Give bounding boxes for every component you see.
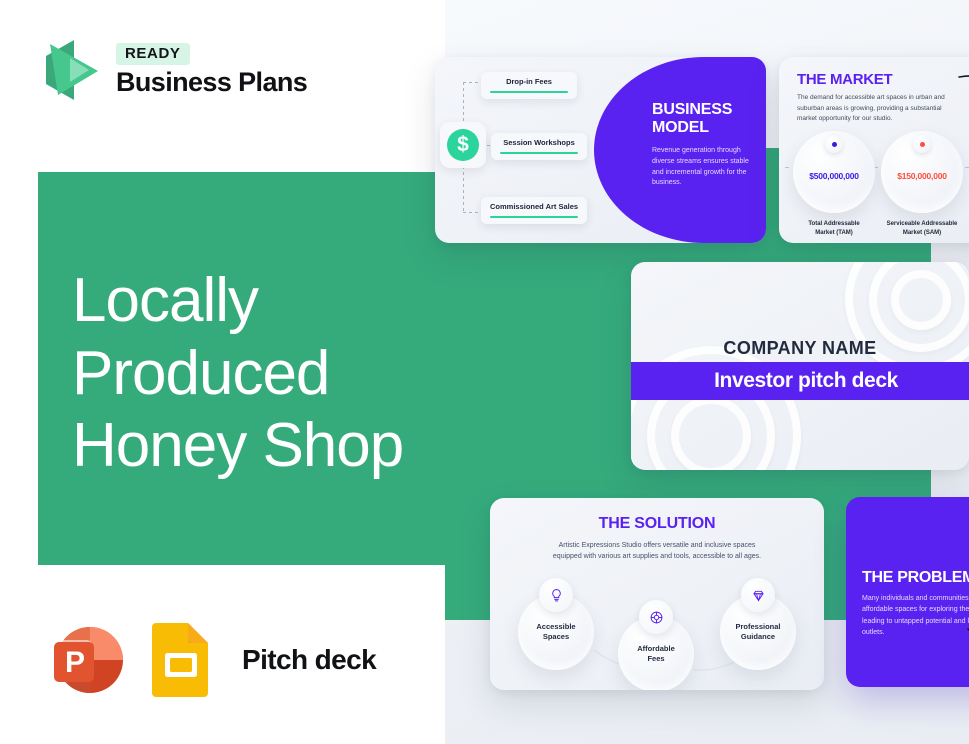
business-model-purple-panel: BUSINESS MODEL Revenue generation throug… <box>594 57 766 243</box>
revenue-item-label: Drop-in Fees <box>490 77 568 86</box>
dollar-badge: $ <box>440 122 486 168</box>
market-orb: $500,000,000 <box>793 131 875 213</box>
target-icon <box>639 600 673 634</box>
market-dot <box>832 142 837 147</box>
market-stat-caption: Total Addressable Market (TAM) <box>793 220 875 237</box>
revenue-item-bar <box>490 91 568 93</box>
revenue-item-session-workshops[interactable]: Session Workshops <box>491 133 587 160</box>
investor-pitch-deck-band: Investor pitch deck <box>631 362 969 400</box>
investor-pitch-deck-label: Investor pitch deck <box>714 369 898 393</box>
solution-node-professional-guidance[interactable]: Professional Guidance <box>720 594 796 670</box>
solution-node-accessible-spaces[interactable]: Accessible Spaces <box>518 594 594 670</box>
dollar-icon: $ <box>447 129 479 161</box>
footer-label: Pitch deck <box>242 644 376 676</box>
solution-node-label: Affordable Fees <box>637 644 675 665</box>
slide-the-market[interactable]: THE MARKET The demand for accessible art… <box>779 57 969 243</box>
play-triangle-logo-svg <box>40 36 102 104</box>
business-model-flow: $ Drop-in Fees Session Workshops Commiss… <box>435 57 610 243</box>
market-title: THE MARKET <box>797 71 892 88</box>
page-title: Locally Produced Honey Shop <box>72 265 403 483</box>
brand-logo-group: READY Business Plans <box>40 36 307 104</box>
revenue-item-drop-in-fees[interactable]: Drop-in Fees <box>481 72 577 99</box>
footer-format-group: P Pitch deck <box>40 615 376 705</box>
market-stat-sam: $150,000,000 Serviceable Addressable Mar… <box>881 131 963 237</box>
market-stat-caption: Serviceable Addressable Market (SAM) <box>881 220 963 237</box>
slide-business-model[interactable]: $ Drop-in Fees Session Workshops Commiss… <box>435 57 766 243</box>
solution-node-label: Accessible Spaces <box>536 622 575 643</box>
market-body: The demand for accessible art spaces in … <box>797 93 949 125</box>
brand-text: READY Business Plans <box>116 43 307 98</box>
revenue-item-commissioned-art-sales[interactable]: Commissioned Art Sales <box>481 197 587 224</box>
solution-node-affordable-fees[interactable]: Affordable Fees <box>618 616 694 690</box>
solution-node-label: Professional Guidance <box>735 622 780 643</box>
lightbulb-icon <box>539 578 573 612</box>
revenue-item-label: Session Workshops <box>500 138 578 147</box>
business-model-title: BUSINESS MODEL <box>652 101 752 137</box>
play-triangle-logo <box>40 36 102 104</box>
market-dot <box>920 142 925 147</box>
google-slides-icon <box>150 621 212 699</box>
slide-the-problem[interactable]: THE PROBLEM Many individuals and communi… <box>846 497 969 687</box>
solution-title: THE SOLUTION <box>490 515 824 533</box>
powerpoint-icon: P <box>40 615 130 705</box>
problem-title: THE PROBLEM <box>862 569 969 587</box>
curved-arrow-icon <box>957 73 969 107</box>
brand-name: Business Plans <box>116 67 307 98</box>
svg-text:P: P <box>65 646 85 679</box>
market-stat-value: $150,000,000 <box>897 171 947 181</box>
slide-the-solution[interactable]: THE SOLUTION Artistic Expressions Studio… <box>490 498 824 690</box>
solution-body: Artistic Expressions Studio offers versa… <box>547 540 767 563</box>
company-name: COMPANY NAME <box>631 338 969 359</box>
market-stat-tam: $500,000,000 Total Addressable Market (T… <box>793 131 875 237</box>
market-orb: $150,000,000 <box>881 131 963 213</box>
slide-company-title[interactable]: COMPANY NAME Investor pitch deck <box>631 262 969 470</box>
business-model-body: Revenue generation through diverse strea… <box>652 146 752 189</box>
market-dot-holder <box>825 135 843 153</box>
diamond-icon <box>741 578 775 612</box>
revenue-item-label: Commissioned Art Sales <box>490 202 578 211</box>
problem-body: Many individuals and communities lack ac… <box>862 593 969 638</box>
market-dot-holder <box>913 135 931 153</box>
revenue-item-bar <box>500 152 578 154</box>
market-stat-value: $500,000,000 <box>809 171 859 181</box>
revenue-item-bar <box>490 216 578 218</box>
ready-badge: READY <box>116 43 190 65</box>
